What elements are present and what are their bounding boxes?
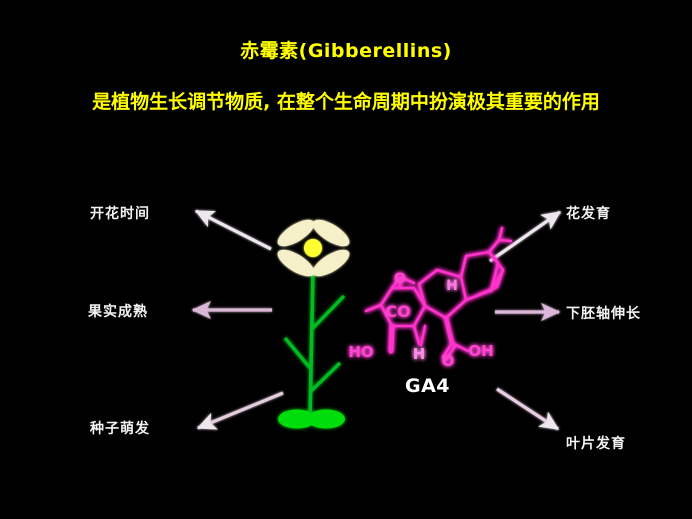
wedge-bond-left [391,326,392,351]
ga4-molecule-structure [366,228,511,360]
plant-leaf-branch [310,363,340,392]
label-flowering-time: 开花时间 [90,203,150,223]
atom-OH: OH [468,342,493,360]
ring-b [419,270,466,318]
bond-ring-bottom [414,326,419,344]
atom-CO: CO [385,302,410,321]
label-leaf-development: 叶片发育 [566,433,626,453]
atom-HO: HO [348,343,373,361]
wedge-bond-carboxyl [446,318,452,343]
bond-to-h [421,326,425,345]
label-hypocotyl-elongation: 下胚轴伸长 [566,303,641,323]
flower-head [274,215,354,282]
plant-leaf-branch [285,338,310,368]
label-seed-germination: 种子萌发 [90,418,150,438]
label-flower-development: 花发育 [566,203,611,223]
arrow-to-flowering-time [196,211,271,249]
plant-illustration [278,270,345,429]
atom-O-ketone: O [394,271,406,287]
atom-O-carbonyl: O [442,352,455,370]
atom-H-ring: H [446,278,458,294]
molecule-name-label: GA4 [405,375,450,397]
plant-cotyledon [307,410,345,429]
atom-H-bottom: H [413,345,426,363]
label-fruit-ripening: 果实成熟 [88,301,148,321]
plant-stem [310,270,313,418]
plant-leaf-branch [311,296,344,330]
arrow-to-leaf-development [497,389,558,429]
ga4-atom-labels: O CO HO H H O OH [348,271,493,370]
bond-to-ho [366,305,381,311]
slide-canvas: 赤霉素(Gibberellins) 是植物生长调节物质, 在整个生命周期中扮演极… [0,0,692,519]
flower-center [304,239,322,257]
arrow-to-seed-germination [198,393,283,428]
